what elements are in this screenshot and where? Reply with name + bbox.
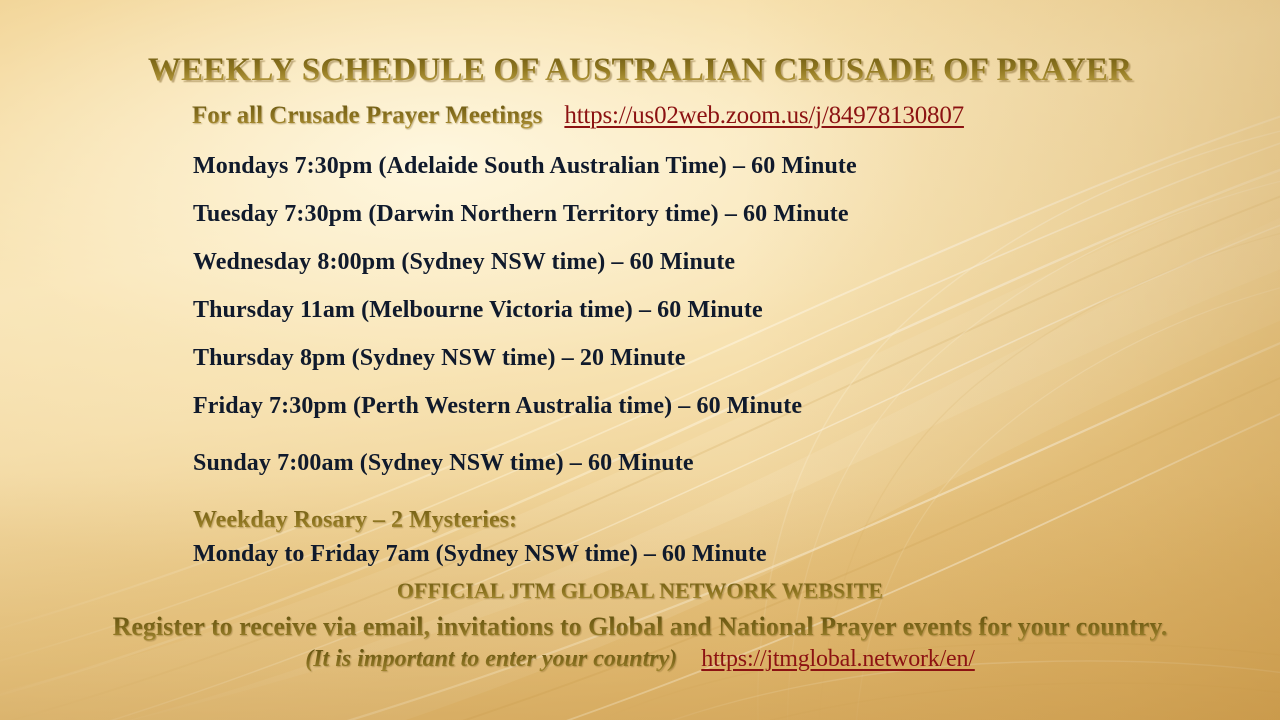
- register-instruction: Register to receive via email, invitatio…: [0, 612, 1280, 642]
- list-item: Mondays 7:30pm (Adelaide South Australia…: [193, 142, 1193, 190]
- crusade-meetings-label: For all Crusade Prayer Meetings: [192, 102, 542, 130]
- official-website-heading: OFFICIAL JTM GLOBAL NETWORK WEBSITE: [0, 578, 1280, 604]
- rosary-detail: Monday to Friday 7am (Sydney NSW time) –…: [193, 536, 767, 572]
- slide-content: WEEKLY SCHEDULE OF AUSTRALIAN CRUSADE OF…: [0, 0, 1280, 720]
- footer-link-row: (It is important to enter your country) …: [0, 646, 1280, 673]
- page-title: WEEKLY SCHEDULE OF AUSTRALIAN CRUSADE OF…: [0, 52, 1280, 89]
- jtm-global-network-link[interactable]: https://jtmglobal.network/en/: [701, 646, 975, 673]
- crusade-meetings-line: For all Crusade Prayer Meetings https://…: [192, 102, 964, 130]
- weekday-rosary-block: Weekday Rosary – 2 Mysteries: Monday to …: [193, 504, 767, 572]
- list-item: Friday 7:30pm (Perth Western Australia t…: [193, 382, 1193, 430]
- list-item: Wednesday 8:00pm (Sydney NSW time) – 60 …: [193, 238, 1193, 286]
- list-item: Thursday 11am (Melbourne Victoria time) …: [193, 286, 1193, 334]
- schedule-list: Mondays 7:30pm (Adelaide South Australia…: [193, 142, 1193, 487]
- list-item: Thursday 8pm (Sydney NSW time) – 20 Minu…: [193, 334, 1193, 382]
- rosary-heading: Weekday Rosary – 2 Mysteries:: [193, 504, 767, 536]
- list-item: Tuesday 7:30pm (Darwin Northern Territor…: [193, 190, 1193, 238]
- list-item: Sunday 7:00am (Sydney NSW time) – 60 Min…: [193, 439, 1193, 487]
- zoom-meeting-link[interactable]: https://us02web.zoom.us/j/84978130807: [564, 102, 964, 130]
- enter-country-note: (It is important to enter your country): [305, 646, 677, 673]
- slide-canvas: WEEKLY SCHEDULE OF AUSTRALIAN CRUSADE OF…: [0, 0, 1280, 720]
